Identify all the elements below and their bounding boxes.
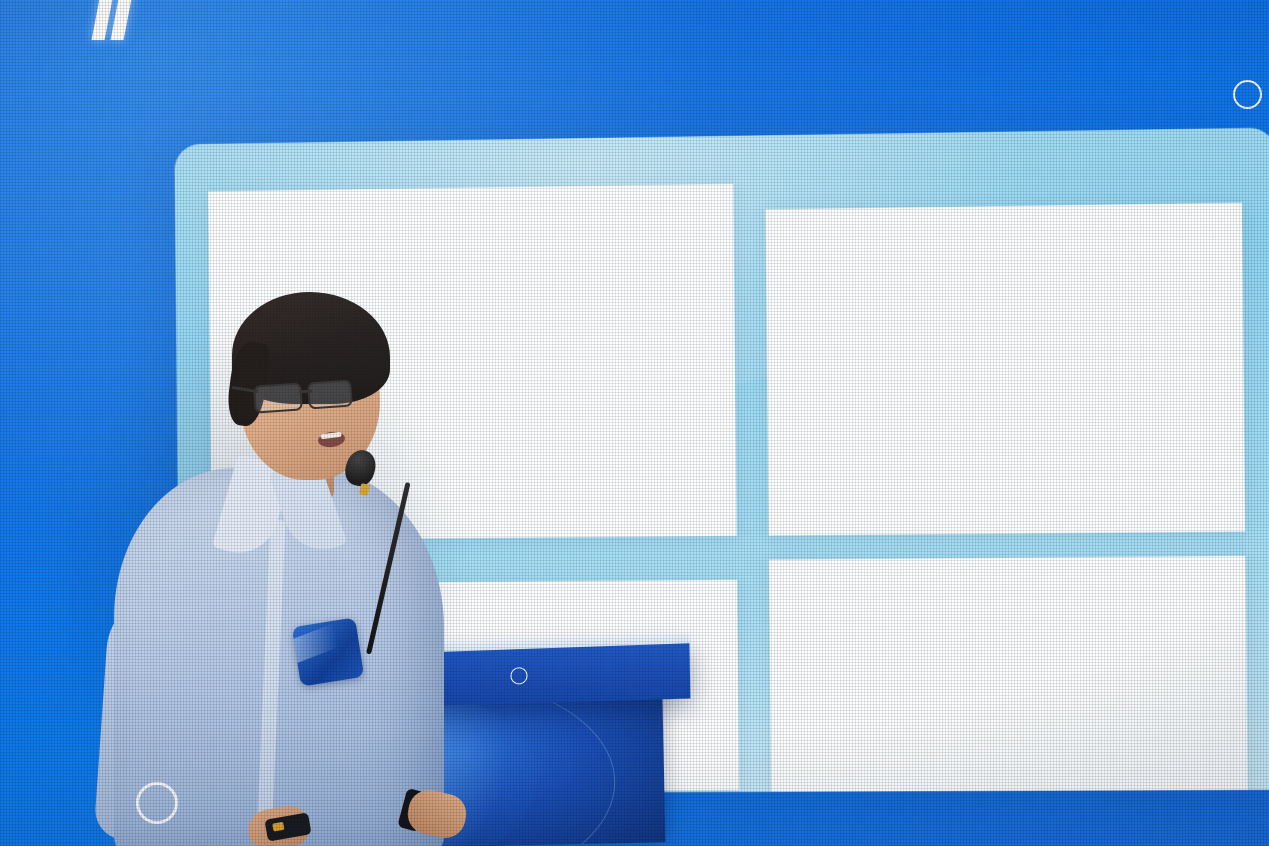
eyeglasses-right-lens-icon	[307, 379, 353, 409]
sparkle-burst-icon	[16, 770, 82, 836]
fz-monogram-icon	[136, 782, 178, 824]
title-bars-icon	[96, 0, 128, 40]
brand-lockup-bottom-left	[16, 770, 196, 836]
shougang-park-logo	[1152, 72, 1205, 116]
speaker-person	[96, 292, 496, 846]
fz-monogram-icon	[1233, 80, 1262, 109]
stage-photo	[0, 0, 1269, 846]
keywords-2022-card	[769, 556, 1248, 792]
fanzhuo-group-logo	[1233, 80, 1269, 109]
pie-chart-card	[766, 203, 1246, 536]
pie-chart-2023	[1013, 255, 1234, 474]
slide-header-title	[96, 0, 141, 40]
brand-lockup-top-right	[1152, 72, 1269, 116]
fz-monogram-icon	[510, 667, 527, 684]
sparkle-burst-icon	[1152, 72, 1196, 116]
pie-chart-2022	[784, 258, 1003, 476]
eyeglasses-left-lens-icon	[253, 382, 303, 413]
speaker-name-badge	[292, 617, 365, 686]
